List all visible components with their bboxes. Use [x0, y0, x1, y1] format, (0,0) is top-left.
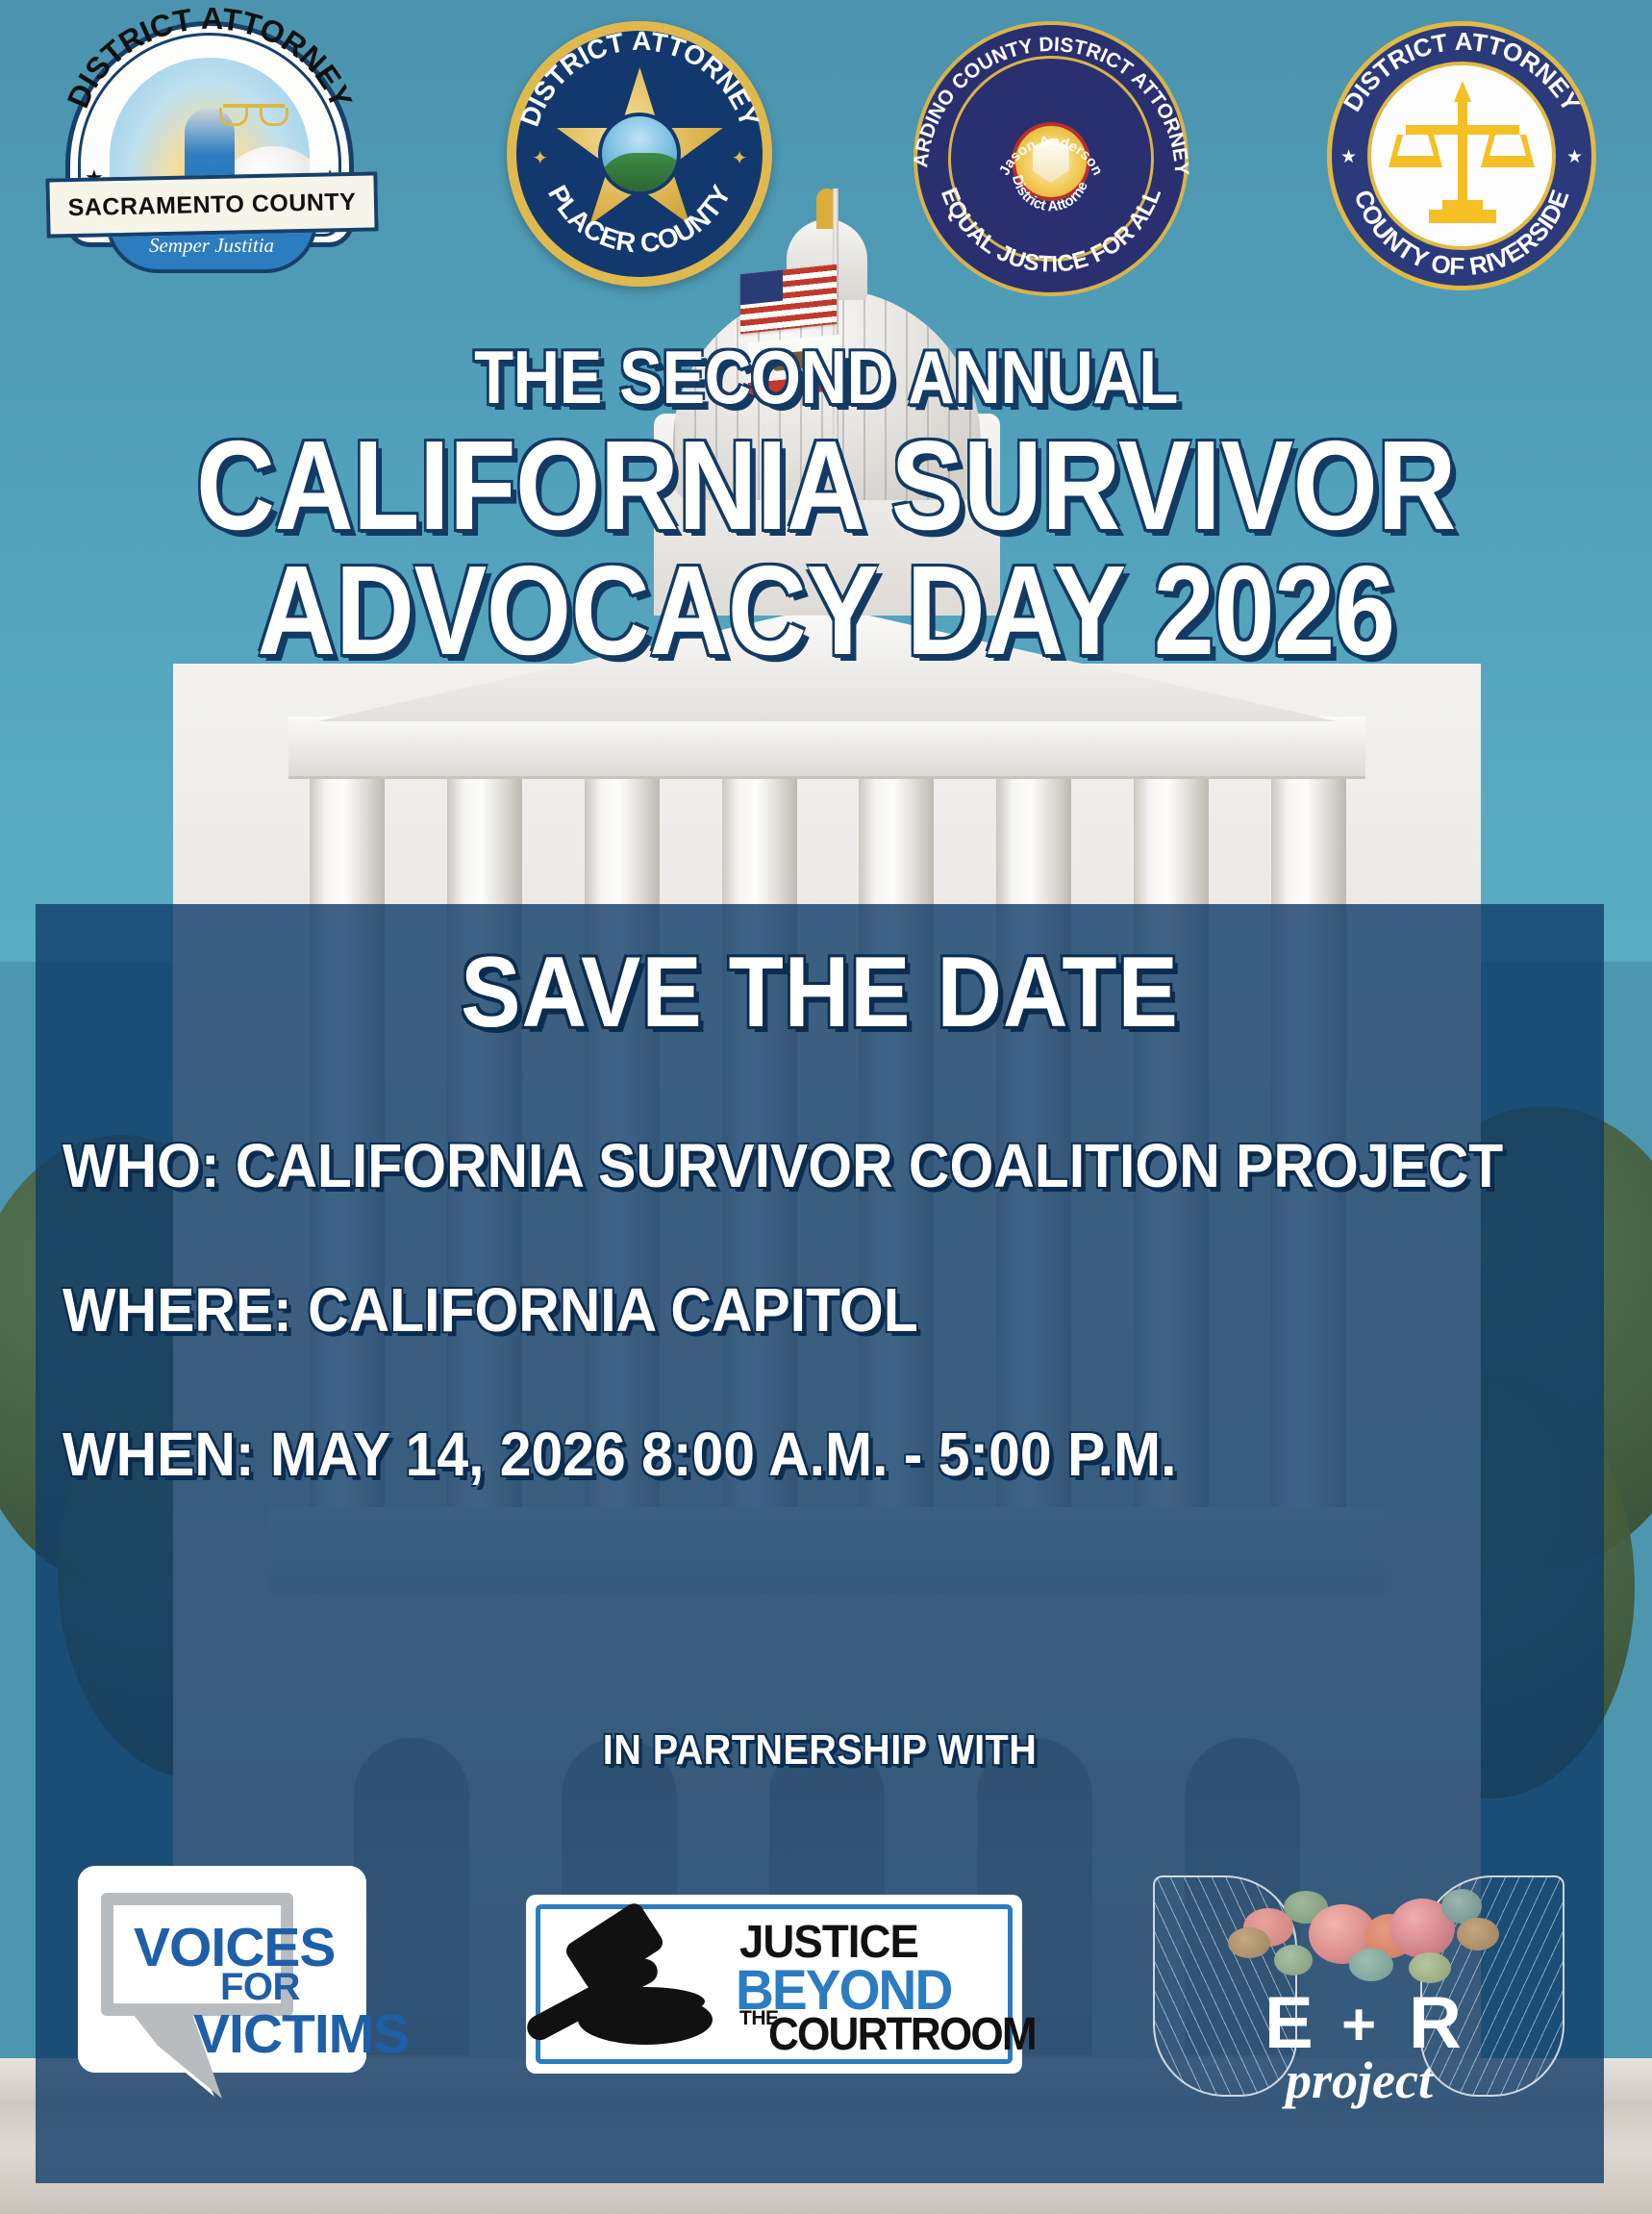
seal-arc-text: DISTRICT ATTORNEY [65, 33, 354, 138]
justice-beyond-the-courtroom-logo: JUSTICE BEYOND THE COURTROOM [526, 1895, 1026, 2077]
detail-where: WHERE: CALIFORNIA CAPITOL [63, 1279, 1456, 1341]
seal-arc-label-top: DISTRICT ATTORNEY [1338, 27, 1586, 116]
svg-text:Jason Anderson: Jason Anderson [996, 134, 1106, 178]
headline-title-line2: ADVOCACY DAY 2026 [115, 551, 1536, 670]
seal-arc-text: SAN BERNARDINO COUNTY DISTRICT ATTORNEY'… [902, 21, 1200, 300]
riverside-county-da-seal: ★ ★ DISTRICT ATTORNEY COUNTY OF RIVERSID… [1317, 21, 1606, 300]
svg-text:COUNTY OF RIVERSIDE: COUNTY OF RIVERSIDE [1348, 186, 1574, 281]
event-details-list: WHO: CALIFORNIA SURVIVOR COALITION PROJE… [63, 1135, 1577, 1568]
gavel-sound-block-icon [578, 1995, 713, 2045]
leaf [1228, 1927, 1270, 1958]
san-bernardino-county-da-seal: SAN BERNARDINO COUNTY DISTRICT ATTORNEY'… [902, 21, 1200, 300]
da-seal-row: DISTRICT ATTORNEY ★ ★ Semper Justitia SA… [0, 21, 1652, 300]
e-r-project-logo: E + R project [1157, 1847, 1561, 2126]
poster-root: DISTRICT ATTORNEY ★ ★ Semper Justitia SA… [0, 0, 1652, 2214]
watercolor-floral-icon [1220, 1881, 1499, 1997]
logo-plus-sign: + [1341, 1991, 1376, 2059]
seal-arc-text: DISTRICT ATTORNEY COUNTY OF RIVERSIDE [1317, 21, 1606, 300]
voices-for-victims-logo: VOICES FOR VICTIMS [78, 1866, 395, 2106]
partner-logo-row: VOICES FOR VICTIMS JUSTICE BEYOND THE CO… [55, 1827, 1584, 2145]
seal-arc-label-bottom: COUNTY OF RIVERSIDE [1348, 186, 1574, 281]
seal-arc-text-bottom: PLACER COUNTY [516, 21, 763, 267]
logo-line-3-small: THE [739, 2010, 772, 2026]
capitol-entablature [288, 717, 1365, 776]
seal-county-banner: SACRAMENTO COUNTY [45, 171, 378, 238]
seal-motto-text: Semper Justitia [149, 234, 274, 258]
leaf [1409, 1952, 1451, 1983]
logo-line-3: VICTIMS [193, 2002, 409, 2066]
leaf [1349, 1949, 1393, 1981]
leaf [1457, 1918, 1499, 1950]
seal-arc-label: PLACER COUNTY [542, 180, 737, 258]
placer-county-da-seal: ✦ ✦ DISTRICT ATTORNEY PLACER COUNTY [495, 21, 784, 300]
detail-who: WHO: CALIFORNIA SURVIVOR COALITION PROJE… [63, 1135, 1456, 1196]
leaf [1274, 1945, 1313, 1975]
detail-when: WHEN: MAY 14, 2026 8:00 A.M. - 5:00 P.M. [63, 1423, 1456, 1485]
svg-text:PLACER COUNTY: PLACER COUNTY [542, 180, 737, 258]
seal-county-text: SACRAMENTO COUNTY [67, 188, 356, 221]
partnership-label: IN PARTNERSHIP WITH [114, 1726, 1526, 1774]
logo-line-3: COURTROOM [768, 2008, 1036, 2061]
sacramento-county-da-seal: DISTRICT ATTORNEY ★ ★ Semper Justitia SA… [46, 21, 378, 281]
headline-title-line1: CALIFORNIA SURVIVOR [115, 426, 1536, 545]
save-the-date-heading: SAVE THE DATE [114, 943, 1526, 1043]
logo-word-project: project [1286, 2050, 1433, 2110]
svg-text:DISTRICT ATTORNEY: DISTRICT ATTORNEY [1338, 27, 1586, 116]
seal-da-name: Jason Anderson [996, 134, 1106, 178]
headline-eyebrow: THE SECOND ANNUAL [115, 342, 1536, 413]
event-details-panel: SAVE THE DATE WHO: CALIFORNIA SURVIVOR C… [36, 904, 1604, 2183]
poster-headline: THE SECOND ANNUAL CALIFORNIA SURVIVOR AD… [0, 342, 1652, 670]
